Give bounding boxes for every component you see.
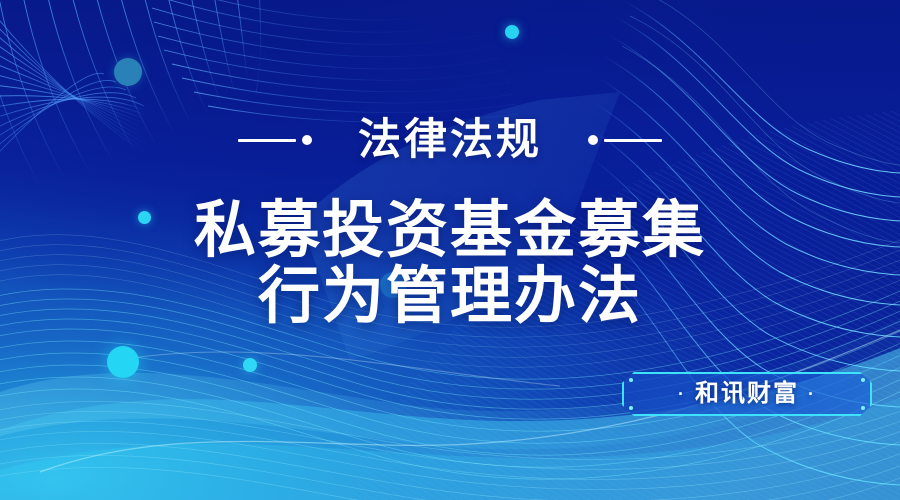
page-title-line-2: 行为管理办法 xyxy=(0,264,900,330)
page-title: 私募投资基金募集 行为管理办法 xyxy=(0,198,900,329)
teal-circle xyxy=(114,58,142,86)
cyan-circle-small-top xyxy=(505,25,519,39)
badge-label: 和讯财富 xyxy=(695,382,799,406)
rule-knob-left xyxy=(302,135,312,145)
eyebrow-rule-left xyxy=(238,135,312,145)
cyan-circle-large xyxy=(107,346,139,378)
brand-badge-text: · 和讯财富 · xyxy=(622,372,872,416)
eyebrow-rule-right xyxy=(588,135,662,145)
brand-badge[interactable]: · 和讯财富 · xyxy=(622,372,872,416)
eyebrow-row: 法律法规 xyxy=(0,108,900,172)
rule-bar-left xyxy=(238,139,296,142)
eyebrow-label: 法律法规 xyxy=(358,119,542,162)
cyan-circle-small-bottom xyxy=(243,358,257,372)
rule-knob-right xyxy=(588,135,598,145)
badge-separator-right: · xyxy=(808,385,816,403)
rule-bar-right xyxy=(604,139,662,142)
badge-separator-left: · xyxy=(678,385,686,403)
page-title-line-1: 私募投资基金募集 xyxy=(0,198,900,264)
poster-canvas: 法律法规 私募投资基金募集 行为管理办法 · 和讯财富 · xyxy=(0,0,900,500)
